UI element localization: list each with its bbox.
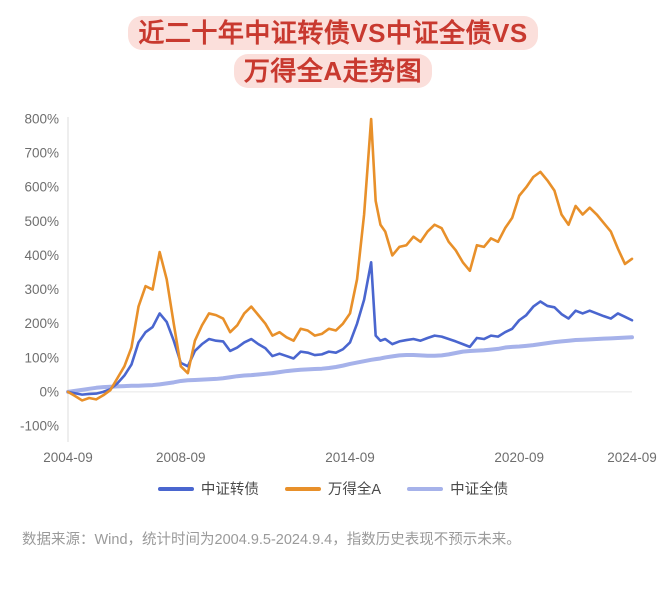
chart-page: 近二十年中证转债VS中证全债VS 万得全A走势图 800%700%600%500… [0,0,666,601]
data-source-note: 数据来源：Wind，统计时间为2004.9.5-2024.9.4，指数历史表现不… [22,527,642,553]
series-line-中证全债 [68,337,632,392]
legend-swatch-0 [158,487,194,491]
title-line-2-text: 万得全A走势图 [234,54,432,88]
legend-swatch-1 [285,487,321,491]
y-axis-tick-label: 500% [24,214,59,229]
y-axis-tick-label: 700% [24,146,59,161]
series-line-万得全A [68,119,632,400]
y-axis-tick-label: -100% [20,419,59,434]
y-axis-tick-label: 800% [24,112,59,127]
x-axis-tick-label: 2014-09 [325,450,375,464]
legend-item-0[interactable]: 中证转债 [158,478,259,499]
y-axis-tick-label: 200% [24,316,59,331]
x-axis-tick-label: 2024-09 [607,450,657,464]
legend-label-1: 万得全A [328,478,381,499]
footnote-divider [0,516,666,517]
x-axis-tick-label: 2008-09 [156,450,206,464]
x-axis-tick-label: 2020-09 [494,450,544,464]
page-title: 近二十年中证转债VS中证全债VS 万得全A走势图 [0,14,666,90]
y-axis-tick-label: 400% [24,248,59,263]
legend-label-0: 中证转债 [201,478,259,499]
y-axis-tick-label: 300% [24,282,59,297]
title-line-2: 万得全A走势图 [0,52,666,90]
legend-item-2[interactable]: 中证全债 [407,478,508,499]
series-line-中证转债 [68,262,632,394]
legend-item-1[interactable]: 万得全A [285,478,381,499]
title-line-1-text: 近二十年中证转债VS中证全债VS [128,16,537,50]
y-axis-tick-label: 600% [24,180,59,195]
x-axis-tick-label: 2004-09 [43,450,93,464]
chart-legend: 中证转债 万得全A 中证全债 [0,478,666,499]
y-axis-tick-label: 0% [39,384,59,399]
legend-label-2: 中证全债 [450,478,508,499]
title-line-1: 近二十年中证转债VS中证全债VS [0,14,666,52]
chart-svg: 800%700%600%500%400%300%200%100%0%-100%2… [0,104,666,464]
y-axis-tick-label: 100% [24,350,59,365]
line-chart: 800%700%600%500%400%300%200%100%0%-100%2… [0,104,666,464]
legend-swatch-2 [407,487,443,491]
